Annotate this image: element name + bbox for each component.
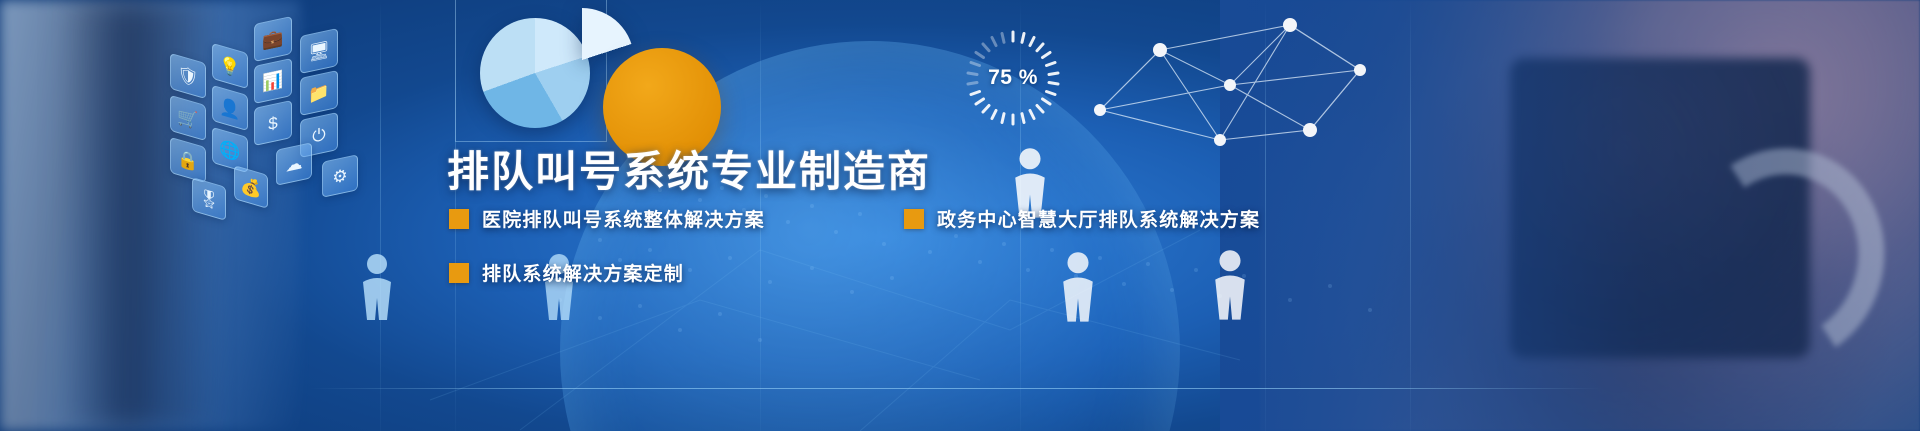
list-item-label: 医院排队叫号系统整体解决方案 — [482, 205, 765, 232]
list-item-label: 政务中心智慧大厅排队系统解决方案 — [937, 205, 1260, 232]
network-nodes-graphic — [1060, 0, 1400, 170]
cloud-icon: ☁ — [276, 142, 312, 186]
briefcase-icon: 💼 — [254, 16, 292, 62]
money-icon: 💰 — [234, 165, 268, 209]
user-icon: 👤 — [212, 85, 248, 131]
monitor-icon: 🖥 — [300, 28, 338, 74]
bullet-square-icon — [904, 209, 924, 229]
lock-icon: 🔒 — [170, 137, 206, 183]
browser-icon: 🌐 — [212, 127, 248, 173]
lightbulb-icon: 💡 — [212, 43, 248, 89]
page-title: 排队叫号系统专业制造商 — [447, 138, 931, 199]
gear-icon: ⚙ — [322, 154, 358, 198]
bottom-divider — [310, 388, 1600, 389]
gauge-value-label: 75 % — [963, 28, 1063, 128]
shield-icon: 🛡 — [170, 53, 206, 99]
list-item: 政务中心智慧大厅排队系统解决方案 — [904, 205, 1260, 232]
dollar-icon: $ — [254, 100, 292, 146]
promo-banner: 🛡 💡 💼 🖥 🛒 👤 📊 📁 🔒 🌐 $ ⏻ 🎖 💰 ☁ ⚙ — [0, 0, 1920, 431]
bullet-square-icon — [449, 263, 469, 283]
folder-icon: 📁 — [300, 70, 338, 116]
person-icon — [358, 252, 396, 324]
list-item-label: 排队系统解决方案定制 — [482, 259, 684, 286]
person-icon — [1058, 250, 1098, 326]
badge-icon: 🎖 — [192, 177, 226, 221]
app-icon-cube: 🛡 💡 💼 🖥 🛒 👤 📊 📁 🔒 🌐 $ ⏻ 🎖 💰 ☁ ⚙ — [150, 10, 410, 240]
list-item: 排队系统解决方案定制 — [449, 259, 684, 286]
chart-bar-icon: 📊 — [254, 58, 292, 104]
person-icon — [1210, 248, 1250, 324]
progress-gauge: 75 % — [963, 28, 1063, 128]
list-item: 医院排队叫号系统整体解决方案 — [449, 205, 765, 232]
cart-icon: 🛒 — [170, 95, 206, 141]
bullet-square-icon — [449, 209, 469, 229]
